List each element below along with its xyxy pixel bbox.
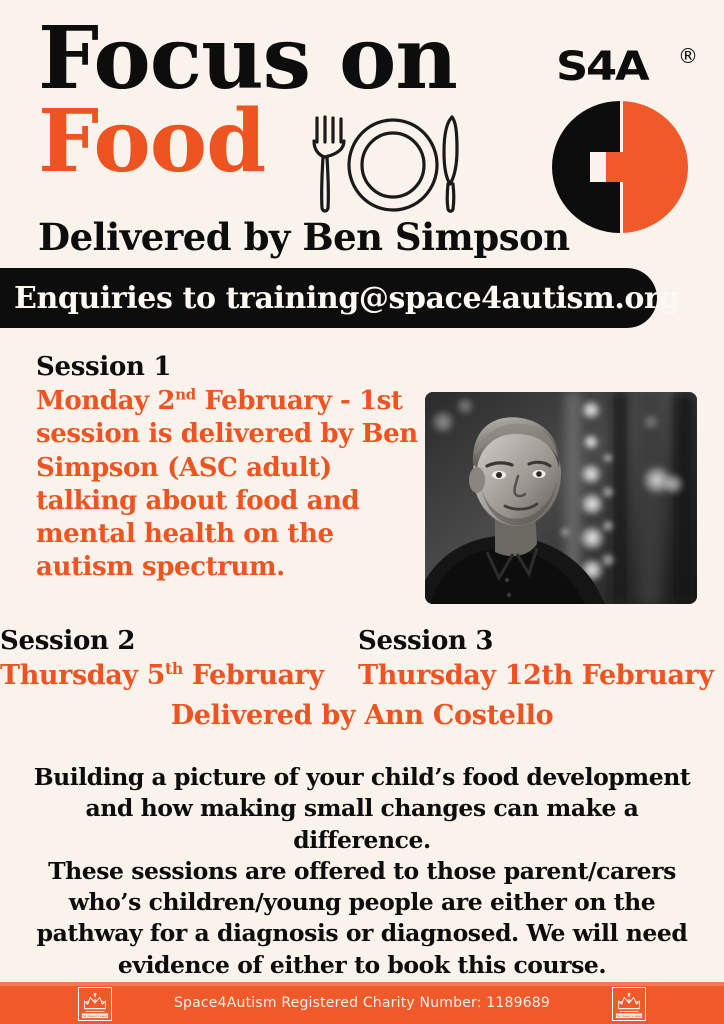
page-title-line-1: Focus on (38, 18, 538, 101)
body-paragraph-1: Building a picture of your child’s food … (26, 762, 698, 856)
s4a-circle-logo-icon (550, 100, 690, 234)
enquiries-email-text: Enquiries to training@space4autism.org (14, 281, 680, 316)
session-2-date-rest: February (183, 660, 324, 691)
session-1-label: Session 1 (36, 352, 426, 382)
session-1-date-ordinal: nd (175, 385, 196, 403)
portrait-photo (425, 392, 697, 604)
session-2-date-ordinal: th (165, 659, 183, 678)
poster-header: Focus on Food (0, 0, 724, 262)
body-copy: Building a picture of your child’s food … (26, 762, 698, 981)
session-3-block: Session 3 Thursday 12th February (358, 626, 724, 691)
enquiries-banner[interactable]: Enquiries to training@space4autism.org (0, 268, 657, 328)
s4a-logo: S4A ® (548, 42, 702, 237)
body-paragraph-2: These sessions are offered to those pare… (26, 856, 698, 981)
delivered-by-ann-costello: Delivered by Ann Costello (0, 700, 724, 731)
badge-caption: The Queen's Award (614, 1014, 643, 1018)
session-2-label: Session 2 (0, 626, 350, 656)
registered-trademark-icon: ® (678, 44, 698, 68)
session-1-block: Session 1 Monday 2nd February - 1st sess… (36, 352, 426, 585)
poster-root: Focus on Food (0, 0, 724, 1024)
poster-subtitle: Delivered by Ben Simpson (38, 215, 570, 259)
queens-award-crown-icon-secondary: The Queen's Award (612, 987, 646, 1021)
session-1-date-rest: February (196, 386, 331, 416)
session-3-label: Session 3 (358, 626, 724, 656)
session-1-date-prefix: Monday 2 (36, 386, 175, 416)
session-2-block: Session 2 Thursday 5th February (0, 626, 350, 691)
session-3-date: Thursday 12th February (358, 660, 724, 691)
session-1-details: Monday 2nd February - 1st session is del… (36, 385, 426, 585)
s4a-wordmark: S4A (556, 44, 647, 90)
poster-footer: The Queen's Award Space4Autism Registere… (0, 982, 724, 1024)
session-2-date: Thursday 5th February (0, 660, 350, 691)
fork-plate-knife-icon (300, 108, 472, 220)
session-2-date-prefix: Thursday 5 (0, 660, 165, 691)
